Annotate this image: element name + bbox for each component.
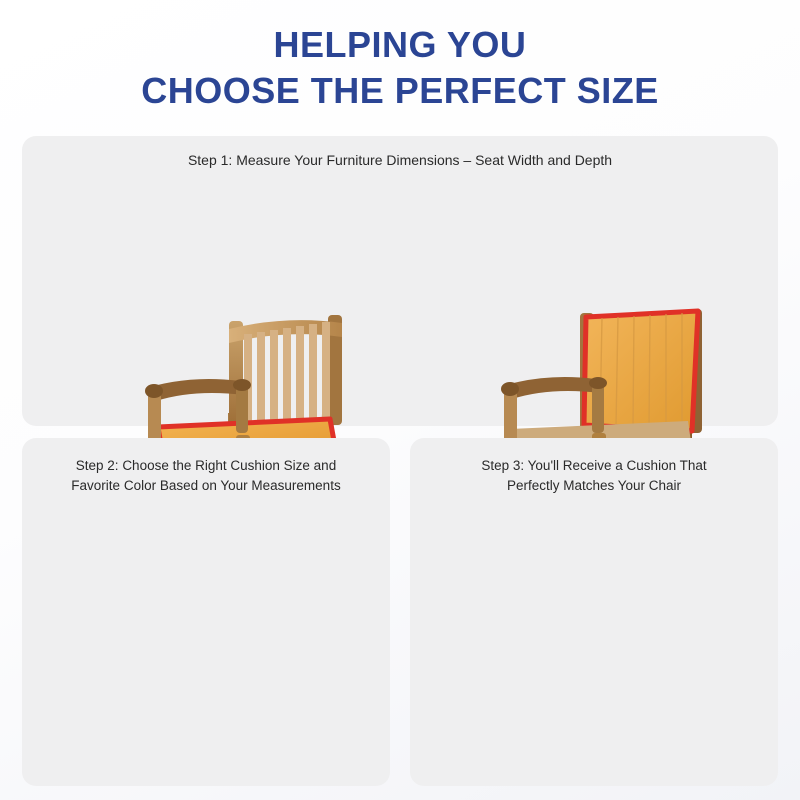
step-2-panel: Step 2: Choose the Right Cushion Size an… xyxy=(22,438,390,786)
step-3-panel: Step 3: You'll Receive a Cushion That Pe… xyxy=(410,438,778,786)
step-3-heading-line-2: Perfectly Matches Your Chair xyxy=(424,476,764,496)
step-2-heading: Step 2: Choose the Right Cushion Size an… xyxy=(22,456,390,495)
step-3-heading-line-1: Step 3: You'll Receive a Cushion That xyxy=(424,456,764,476)
step-2-heading-line-1: Step 2: Choose the Right Cushion Size an… xyxy=(36,456,376,476)
infographic-page: HELPING YOU CHOOSE THE PERFECT SIZE Step… xyxy=(0,0,800,800)
page-title: HELPING YOU CHOOSE THE PERFECT SIZE xyxy=(0,22,800,114)
page-title-line-1: HELPING YOU xyxy=(0,22,800,68)
step-1-panel: Step 1: Measure Your Furniture Dimension… xyxy=(22,136,778,426)
step-1-heading: Step 1: Measure Your Furniture Dimension… xyxy=(22,150,778,170)
step-3-heading: Step 3: You'll Receive a Cushion That Pe… xyxy=(410,456,778,495)
step-2-heading-line-2: Favorite Color Based on Your Measurement… xyxy=(36,476,376,496)
page-title-line-2: CHOOSE THE PERFECT SIZE xyxy=(0,68,800,114)
